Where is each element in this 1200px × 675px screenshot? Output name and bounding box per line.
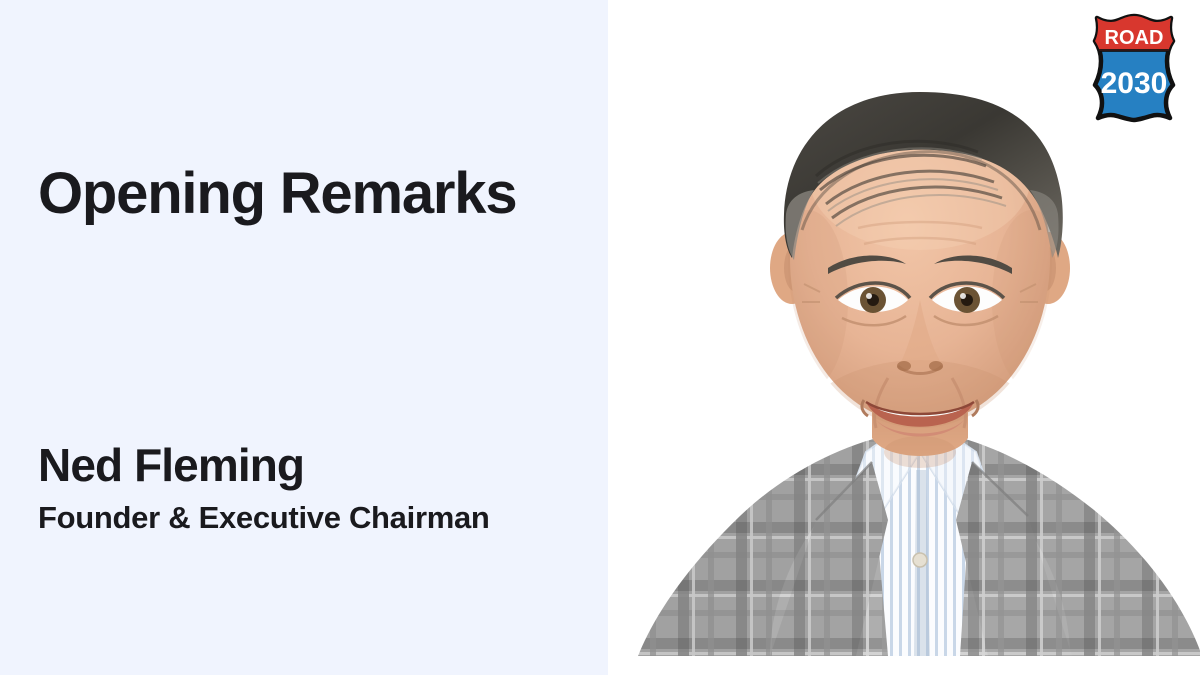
road-2030-shield-logo: road-2030-shield-logo ROAD 2030 bbox=[1091, 13, 1177, 123]
speaker-info: Ned Fleming Founder & Executive Chairman bbox=[38, 440, 578, 536]
presentation-slide: Opening Remarks Ned Fleming Founder & Ex… bbox=[0, 0, 1200, 675]
left-text-panel: Opening Remarks Ned Fleming Founder & Ex… bbox=[0, 0, 608, 675]
logo-top-text: ROAD bbox=[1105, 27, 1164, 49]
logo-bottom-text: 2030 bbox=[1101, 67, 1168, 100]
page-title: Opening Remarks bbox=[38, 163, 516, 226]
speaker-name: Ned Fleming bbox=[38, 440, 578, 492]
speaker-role: Founder & Executive Chairman bbox=[38, 500, 578, 537]
